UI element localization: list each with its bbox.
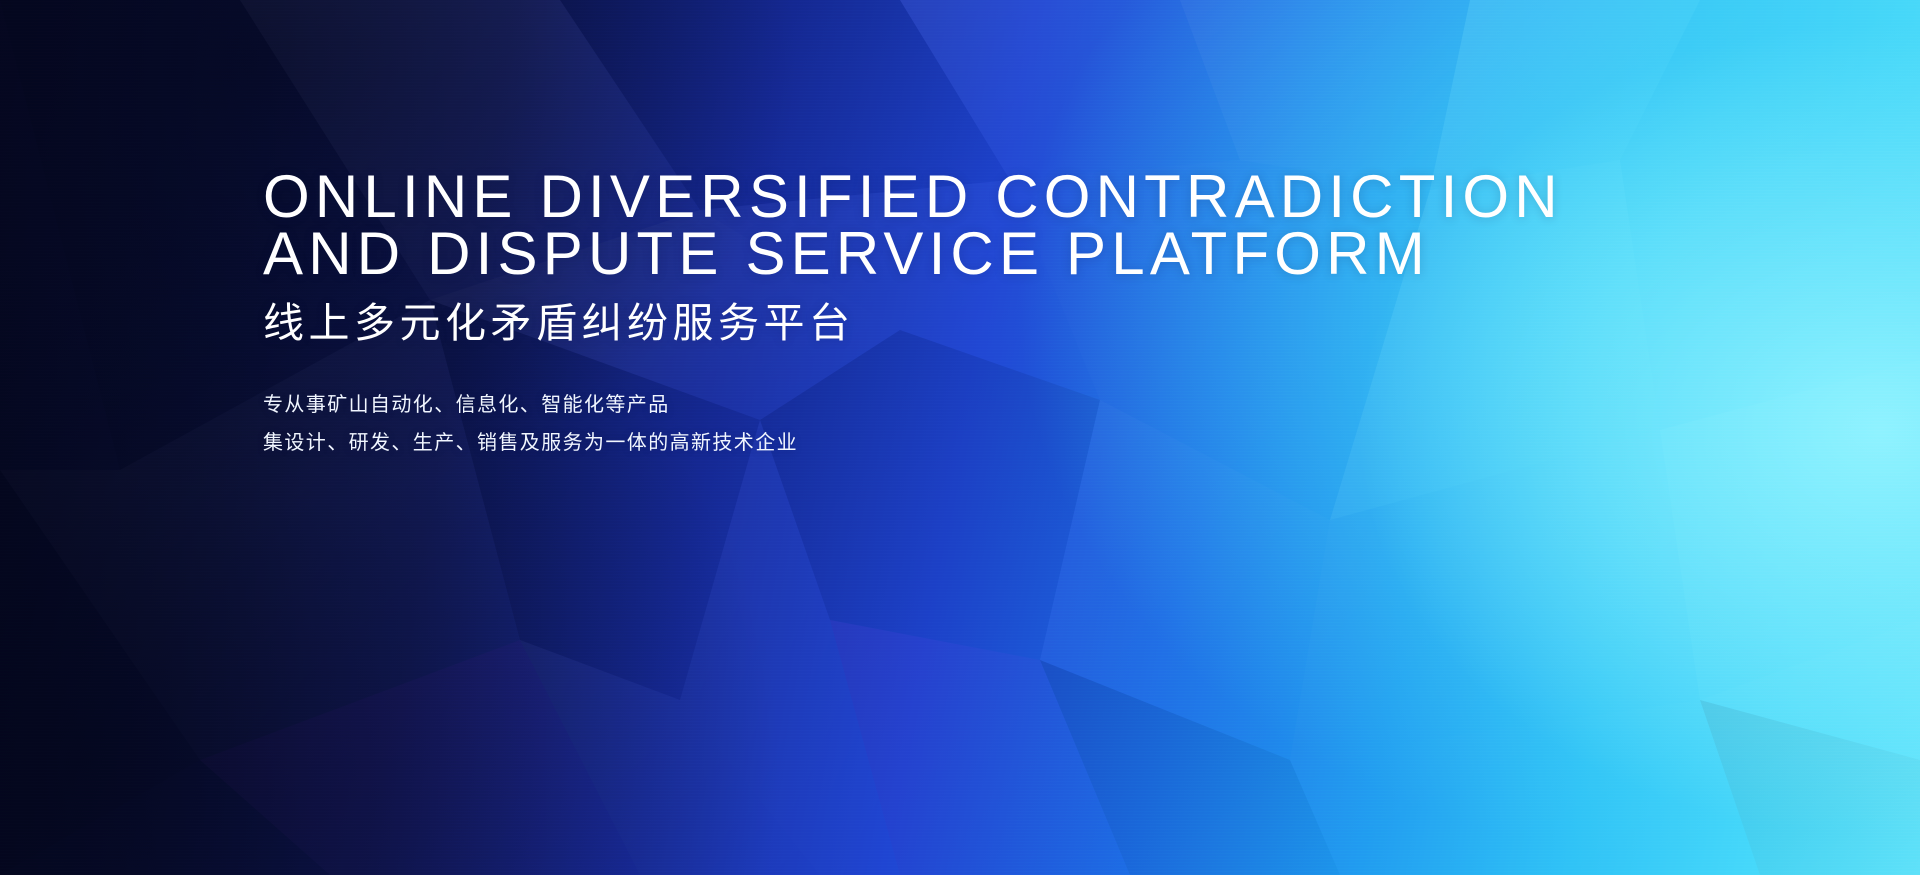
description-line-2: 集设计、研发、生产、销售及服务为一体的高新技术企业 [263, 424, 1583, 462]
banner-content: ONLINE DIVERSIFIED CONTRADICTION AND DIS… [263, 168, 1583, 462]
headline-line-2: AND DISPUTE SERVICE PLATFORM [263, 225, 1583, 282]
page-title: ONLINE DIVERSIFIED CONTRADICTION AND DIS… [263, 168, 1583, 282]
description-block: 专从事矿山自动化、信息化、智能化等产品 集设计、研发、生产、销售及服务为一体的高… [263, 386, 1583, 462]
subtitle-chinese: 线上多元化矛盾纠纷服务平台 [263, 299, 1583, 347]
hero-banner: ONLINE DIVERSIFIED CONTRADICTION AND DIS… [0, 0, 1920, 875]
description-line-1: 专从事矿山自动化、信息化、智能化等产品 [263, 386, 1583, 424]
